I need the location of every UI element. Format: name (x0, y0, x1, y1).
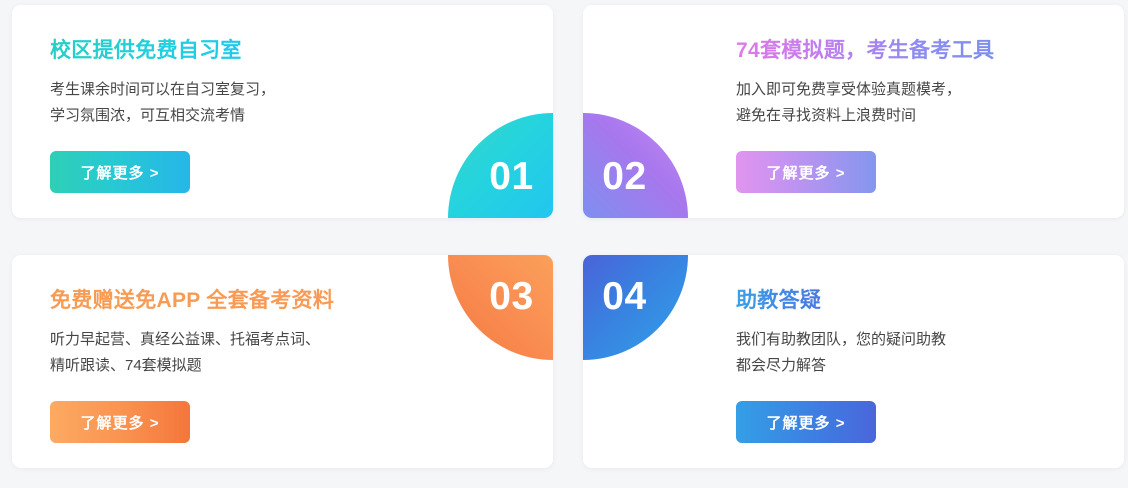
feature-card-03[interactable]: 03 免费赠送免APP 全套备考资料 听力早起营、真经公益课、托福考点词、 精听… (12, 255, 553, 468)
card-description-04: 我们有助教团队，您的疑问助教 都会尽力解答 (736, 327, 1124, 379)
card-title-03: 免费赠送免APP 全套备考资料 (50, 288, 334, 313)
card-description-line-2: 避免在寻找资料上浪费时间 (736, 103, 1124, 129)
card-content-03: 免费赠送免APP 全套备考资料 听力早起营、真经公益课、托福考点词、 精听跟读、… (12, 255, 553, 443)
feature-card-01[interactable]: 01 校区提供免费自习室 考生课余时间可以在自习室复习， 学习氛围浓，可互相交流… (12, 5, 553, 218)
card-description-line-1: 听力早起营、真经公益课、托福考点词、 (50, 327, 553, 353)
card-description-02: 加入即可免费享受体验真题模考， 避免在寻找资料上浪费时间 (736, 77, 1124, 129)
card-description-line-2: 学习氛围浓，可互相交流考情 (50, 103, 553, 129)
card-title-02: 74套模拟题，考生备考工具 (736, 38, 994, 63)
card-content-02: 74套模拟题，考生备考工具 加入即可免费享受体验真题模考， 避免在寻找资料上浪费… (583, 5, 1124, 193)
card-title-04: 助教答疑 (736, 288, 821, 313)
card-description-line-1: 加入即可免费享受体验真题模考， (736, 77, 1124, 103)
card-content-04: 助教答疑 我们有助教团队，您的疑问助教 都会尽力解答 了解更多 > (583, 255, 1124, 443)
card-description-03: 听力早起营、真经公益课、托福考点词、 精听跟读、74套模拟题 (50, 327, 553, 379)
card-content-01: 校区提供免费自习室 考生课余时间可以在自习室复习， 学习氛围浓，可互相交流考情 … (12, 5, 553, 193)
feature-card-grid: 01 校区提供免费自习室 考生课余时间可以在自习室复习， 学习氛围浓，可互相交流… (0, 0, 1128, 488)
feature-card-02[interactable]: 02 74套模拟题，考生备考工具 加入即可免费享受体验真题模考， 避免在寻找资料… (583, 5, 1124, 218)
card-description-line-1: 考生课余时间可以在自习室复习， (50, 77, 553, 103)
card-title-01: 校区提供免费自习室 (50, 38, 242, 63)
learn-more-button-02[interactable]: 了解更多 > (736, 151, 876, 193)
card-description-line-2: 都会尽力解答 (736, 353, 1124, 379)
card-description-line-1: 我们有助教团队，您的疑问助教 (736, 327, 1124, 353)
feature-card-04[interactable]: 04 助教答疑 我们有助教团队，您的疑问助教 都会尽力解答 了解更多 > (583, 255, 1124, 468)
learn-more-button-04[interactable]: 了解更多 > (736, 401, 876, 443)
card-description-01: 考生课余时间可以在自习室复习， 学习氛围浓，可互相交流考情 (50, 77, 553, 129)
card-description-line-2: 精听跟读、74套模拟题 (50, 353, 553, 379)
learn-more-button-01[interactable]: 了解更多 > (50, 151, 190, 193)
learn-more-button-03[interactable]: 了解更多 > (50, 401, 190, 443)
